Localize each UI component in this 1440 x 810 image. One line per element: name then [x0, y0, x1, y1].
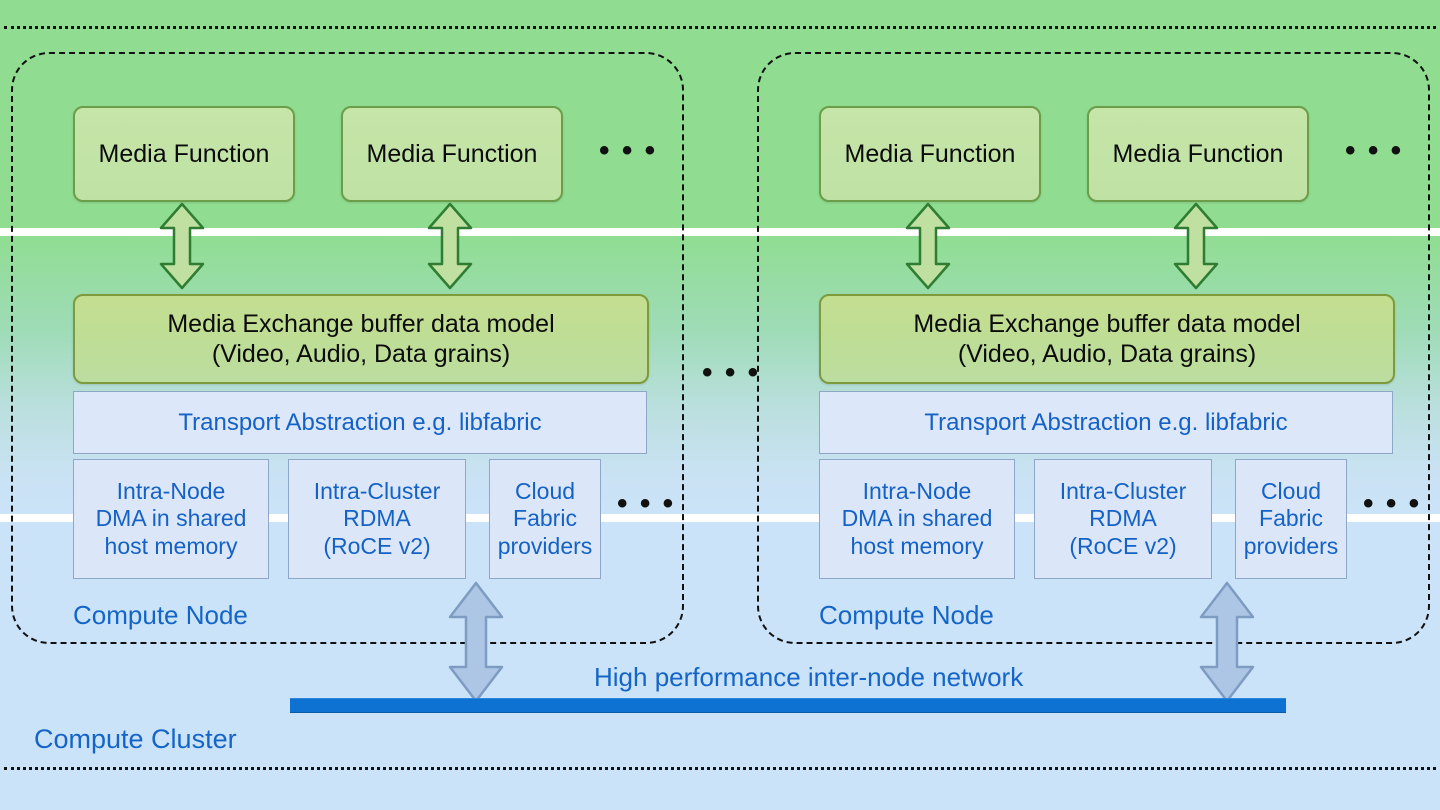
network-bidirectional-arrow-icon [447, 581, 505, 703]
bidirectional-arrow-icon [427, 202, 473, 290]
provider-line3: providers [498, 533, 593, 561]
provider-line2: RDMA [343, 505, 411, 533]
media-function-label: Media Function [99, 140, 270, 169]
provider-box-intra-cluster[interactable]: Intra-Cluster RDMA (RoCE v2) [288, 459, 466, 579]
provider-line1: Cloud [1261, 478, 1321, 506]
media-function-box[interactable]: Media Function [341, 106, 563, 202]
media-exchange-buffer-box[interactable]: Media Exchange buffer data model (Video,… [819, 294, 1395, 384]
media-exchange-line1: Media Exchange buffer data model [167, 309, 554, 340]
compute-node-label: Compute Node [73, 600, 248, 631]
provider-line1: Intra-Cluster [1060, 478, 1187, 506]
media-function-box[interactable]: Media Function [819, 106, 1041, 202]
media-functions-ellipsis: • • • [1345, 136, 1403, 166]
inter-node-network-bar [290, 698, 1286, 713]
compute-node-right: Media Function Media Function • • • Medi… [757, 52, 1430, 644]
media-exchange-line2: (Video, Audio, Data grains) [958, 339, 1256, 370]
provider-line3: (RoCE v2) [1069, 533, 1176, 561]
bidirectional-arrow-icon [1173, 202, 1219, 290]
compute-node-left: Media Function Media Function • • • Medi… [11, 52, 684, 644]
network-bidirectional-arrow-icon [1198, 581, 1256, 703]
media-function-label: Media Function [845, 140, 1016, 169]
provider-line2: Fabric [513, 505, 577, 533]
provider-line3: host memory [105, 533, 238, 561]
bidirectional-arrow-icon [159, 202, 205, 290]
provider-box-cloud-fabric[interactable]: Cloud Fabric providers [1235, 459, 1347, 579]
diagram-canvas: Media Function Media Function • • • Medi… [0, 0, 1440, 810]
compute-cluster-label: Compute Cluster [34, 724, 237, 755]
transport-abstraction-box[interactable]: Transport Abstraction e.g. libfabric [73, 391, 647, 454]
additional-nodes-ellipsis: • • • [702, 358, 760, 388]
media-function-box[interactable]: Media Function [1087, 106, 1309, 202]
provider-box-intra-cluster[interactable]: Intra-Cluster RDMA (RoCE v2) [1034, 459, 1212, 579]
provider-line3: (RoCE v2) [323, 533, 430, 561]
media-functions-ellipsis: • • • [599, 136, 657, 166]
provider-line1: Intra-Cluster [314, 478, 441, 506]
media-exchange-line1: Media Exchange buffer data model [913, 309, 1300, 340]
provider-box-intra-node[interactable]: Intra-Node DMA in shared host memory [819, 459, 1015, 579]
provider-line2: DMA in shared [842, 505, 993, 533]
transport-abstraction-box[interactable]: Transport Abstraction e.g. libfabric [819, 391, 1393, 454]
inter-node-network-label: High performance inter-node network [594, 662, 1023, 693]
media-function-label: Media Function [1113, 140, 1284, 169]
provider-line1: Intra-Node [863, 478, 972, 506]
compute-node-label: Compute Node [819, 600, 994, 631]
provider-line1: Cloud [515, 478, 575, 506]
transport-abstraction-label: Transport Abstraction e.g. libfabric [178, 409, 541, 437]
media-function-box[interactable]: Media Function [73, 106, 295, 202]
provider-box-cloud-fabric[interactable]: Cloud Fabric providers [489, 459, 601, 579]
media-exchange-line2: (Video, Audio, Data grains) [212, 339, 510, 370]
media-exchange-buffer-box[interactable]: Media Exchange buffer data model (Video,… [73, 294, 649, 384]
transport-abstraction-label: Transport Abstraction e.g. libfabric [924, 409, 1287, 437]
provider-line2: DMA in shared [96, 505, 247, 533]
providers-ellipsis: • • • [1363, 489, 1421, 519]
media-function-label: Media Function [367, 140, 538, 169]
provider-box-intra-node[interactable]: Intra-Node DMA in shared host memory [73, 459, 269, 579]
provider-line2: Fabric [1259, 505, 1323, 533]
provider-line2: RDMA [1089, 505, 1157, 533]
providers-ellipsis: • • • [617, 489, 675, 519]
bidirectional-arrow-icon [905, 202, 951, 290]
provider-line3: host memory [851, 533, 984, 561]
provider-line3: providers [1244, 533, 1339, 561]
provider-line1: Intra-Node [117, 478, 226, 506]
